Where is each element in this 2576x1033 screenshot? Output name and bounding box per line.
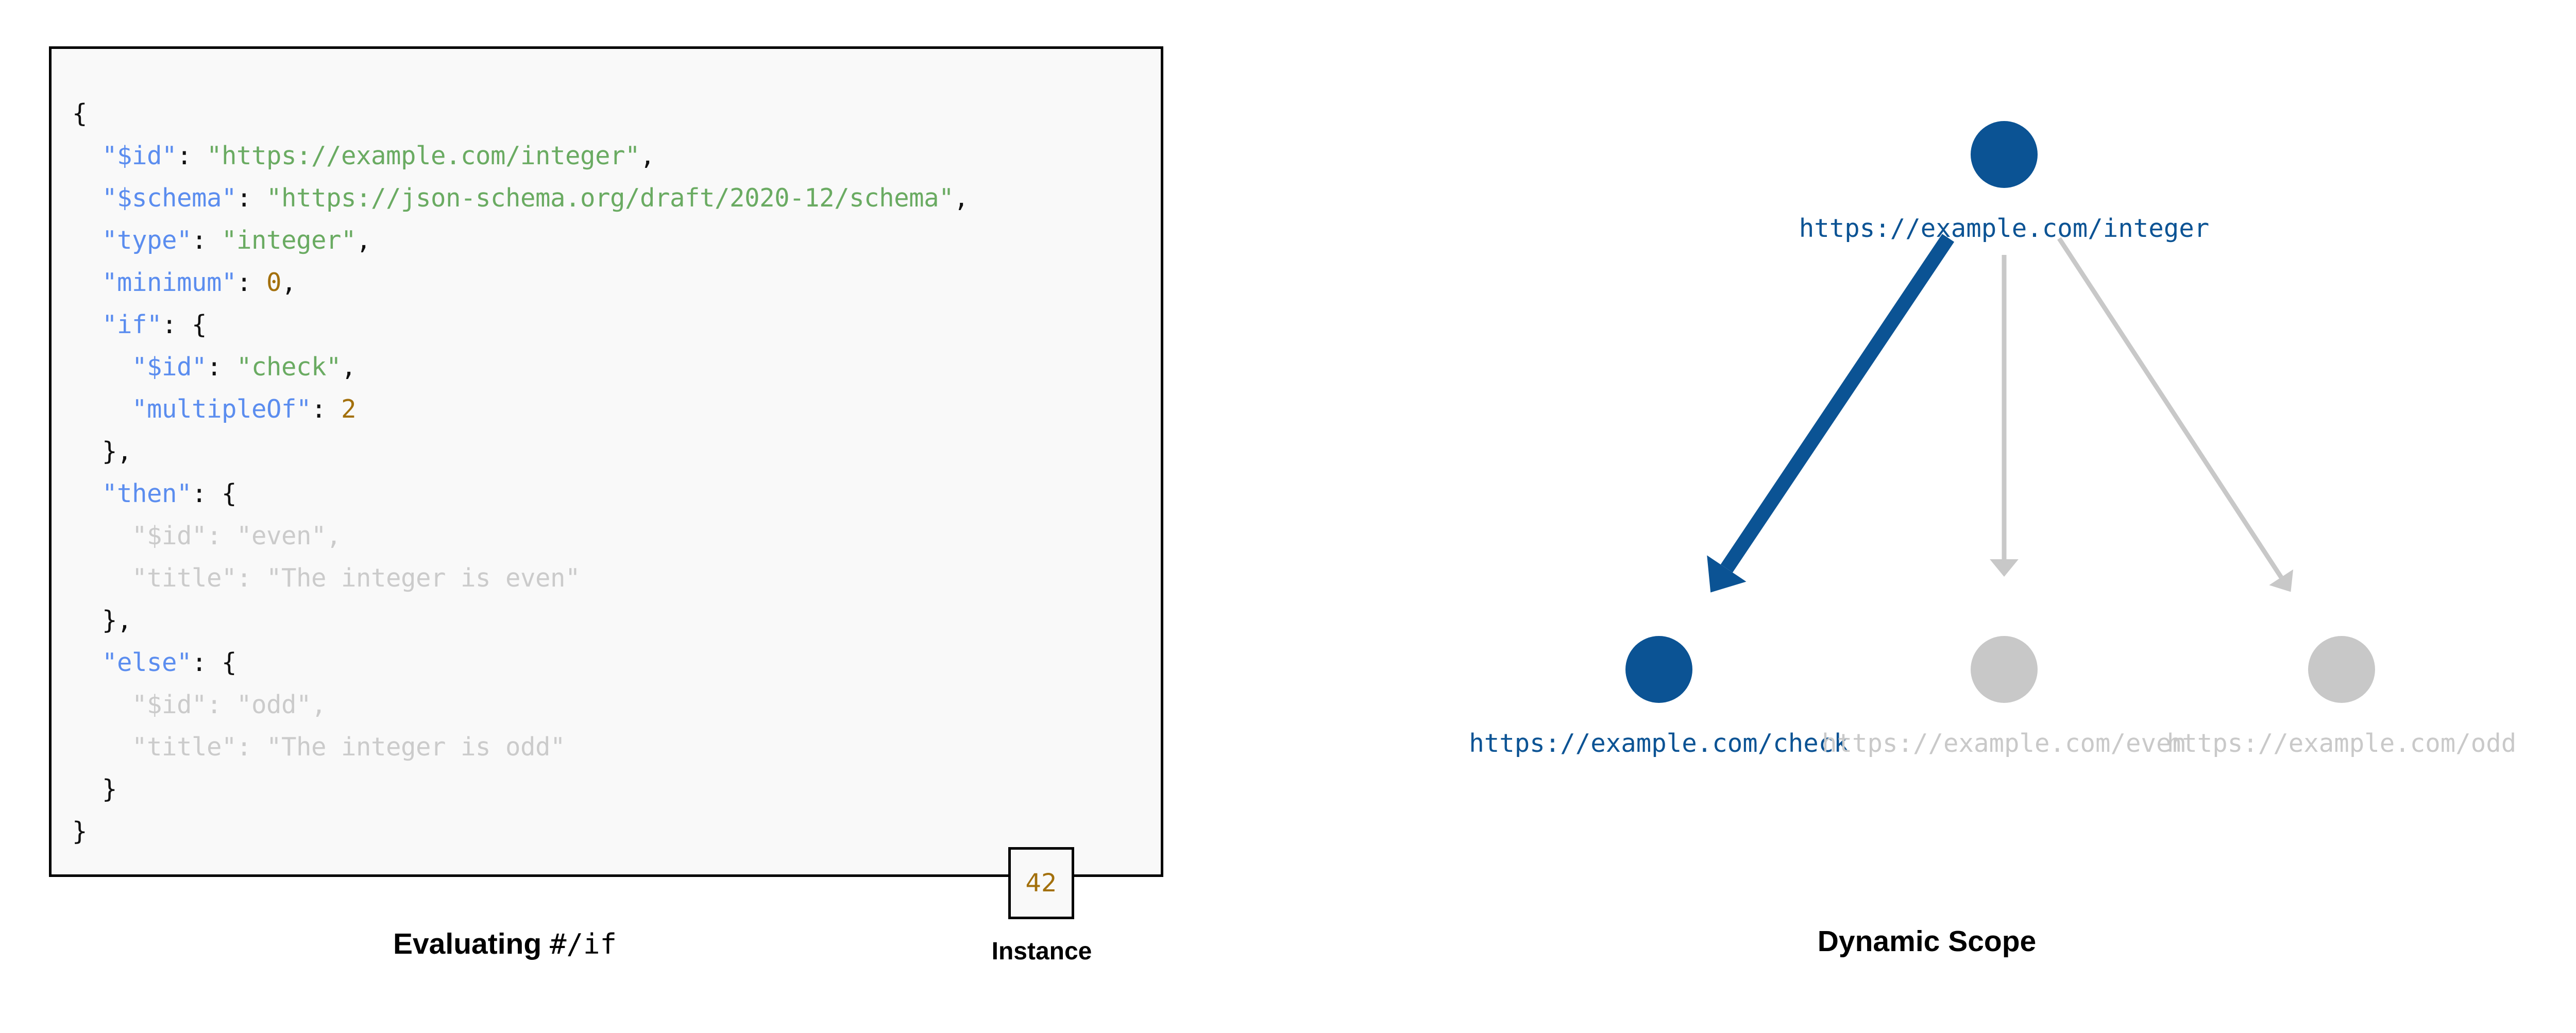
code-token-pun: , xyxy=(954,183,969,213)
code-line: { xyxy=(72,93,969,135)
code-line: "title": "The integer is even" xyxy=(72,557,969,599)
code-line: } xyxy=(72,811,969,853)
code-token-key: "if" xyxy=(102,310,162,339)
scope-node-label-integer: https://example.com/integer xyxy=(1799,214,2210,243)
code-token-pun: , xyxy=(281,268,296,297)
code-token-pun: : xyxy=(207,521,236,550)
code-token-pun: : { xyxy=(192,648,236,677)
code-token-str: "odd" xyxy=(236,690,311,719)
instance-box: 42 xyxy=(1008,847,1074,919)
scope-node-even[interactable] xyxy=(1971,636,2038,703)
code-line: "type": "integer", xyxy=(72,219,969,262)
code-token-key: "$id" xyxy=(132,352,207,382)
code-token-pun: }, xyxy=(102,606,132,635)
code-token-str: "even" xyxy=(236,521,326,550)
code-line: "$schema": "https://json-schema.org/draf… xyxy=(72,177,969,219)
scope-node-integer[interactable] xyxy=(1971,121,2038,188)
code-token-key: "title" xyxy=(132,732,236,762)
code-token-pun: : xyxy=(192,226,222,255)
code-token-pun: : xyxy=(311,394,341,424)
code-token-pun: } xyxy=(102,774,117,804)
code-token-key: "$id" xyxy=(132,690,207,719)
arrowhead-icon xyxy=(1990,559,2019,577)
code-token-key: "then" xyxy=(102,479,192,508)
code-token-pun: : xyxy=(207,690,236,719)
schema-code-box: { "$id": "https://example.com/integer", … xyxy=(49,46,1163,877)
code-token-pun: } xyxy=(72,817,87,846)
dynamic-scope-caption: Dynamic Scope xyxy=(1643,924,2210,958)
schema-code-listing: { "$id": "https://example.com/integer", … xyxy=(72,93,969,853)
graph-edge-integer-to-odd xyxy=(2059,238,2293,592)
code-token-key: "$id" xyxy=(132,521,207,550)
code-token-key: "$schema" xyxy=(102,183,236,213)
code-token-key: "else" xyxy=(102,648,192,677)
code-line: }, xyxy=(72,599,969,642)
code-token-pun: : xyxy=(236,732,266,762)
code-token-pun: , xyxy=(341,352,356,382)
code-line: "if": { xyxy=(72,304,969,346)
code-token-str: "The integer is odd" xyxy=(266,732,565,762)
code-token-pun: : { xyxy=(162,310,207,339)
code-line: "$id": "even", xyxy=(72,515,969,557)
code-token-str: "check" xyxy=(236,352,341,382)
code-line: "minimum": 0, xyxy=(72,262,969,304)
code-token-pun: , xyxy=(311,690,326,719)
scope-node-label-check: https://example.com/check xyxy=(1469,729,1849,758)
scope-node-label-odd: https://example.com/odd xyxy=(2167,729,2517,758)
graph-edge-integer-to-even xyxy=(1990,255,2019,577)
code-line: "$id": "https://example.com/integer", xyxy=(72,135,969,177)
evaluating-caption-text: Evaluating xyxy=(393,927,550,960)
code-token-num: 2 xyxy=(341,394,356,424)
scope-node-odd[interactable] xyxy=(2308,636,2375,703)
scope-node-label-even: https://example.com/even xyxy=(1822,729,2187,758)
code-line: "$id": "odd", xyxy=(72,684,969,726)
code-token-pun: : xyxy=(177,141,207,170)
code-token-pun: : { xyxy=(192,479,236,508)
code-token-pun: { xyxy=(72,99,87,128)
graph-edge-integer-to-check xyxy=(1707,238,1948,592)
code-line: "title": "The integer is odd" xyxy=(72,726,969,768)
code-token-key: "minimum" xyxy=(102,268,236,297)
code-token-key: "type" xyxy=(102,226,192,255)
schema-panel: { "$id": "https://example.com/integer", … xyxy=(0,0,1236,1033)
code-token-pun: : xyxy=(236,268,266,297)
code-token-str: "The integer is even" xyxy=(266,563,580,593)
code-token-key: "$id" xyxy=(102,141,177,170)
dynamic-scope-panel: https://example.com/integerhttps://examp… xyxy=(1236,0,2576,1033)
scope-node-check[interactable] xyxy=(1625,636,1692,703)
code-token-pun: : xyxy=(236,563,266,593)
code-token-num: 0 xyxy=(266,268,281,297)
code-token-str: "integer" xyxy=(222,226,356,255)
code-token-key: "title" xyxy=(132,563,236,593)
code-line: "then": { xyxy=(72,473,969,515)
code-line: "$id": "check", xyxy=(72,346,969,388)
code-token-pun: }, xyxy=(102,437,132,466)
code-token-pun: : xyxy=(207,352,236,382)
code-token-str: "https://example.com/integer" xyxy=(207,141,640,170)
code-token-pun: , xyxy=(326,521,341,550)
code-line: "multipleOf": 2 xyxy=(72,388,969,431)
evaluating-caption-pointer: #/if xyxy=(550,928,617,960)
code-token-pun: , xyxy=(640,141,655,170)
code-line: "else": { xyxy=(72,642,969,684)
code-line: }, xyxy=(72,431,969,473)
code-token-pun: : xyxy=(236,183,266,213)
arrowhead-icon xyxy=(2269,570,2293,592)
instance-value: 42 xyxy=(1025,871,1057,896)
code-token-str: "https://json-schema.org/draft/2020-12/s… xyxy=(266,183,954,213)
evaluating-caption: Evaluating #/if xyxy=(0,927,1010,961)
code-token-key: "multipleOf" xyxy=(132,394,311,424)
code-line: } xyxy=(72,768,969,811)
graph-nodes xyxy=(1625,121,2375,703)
graph-edges xyxy=(1707,238,2293,592)
code-token-pun: , xyxy=(356,226,371,255)
dynamic-scope-graph: https://example.com/integerhttps://examp… xyxy=(1236,0,2576,1033)
